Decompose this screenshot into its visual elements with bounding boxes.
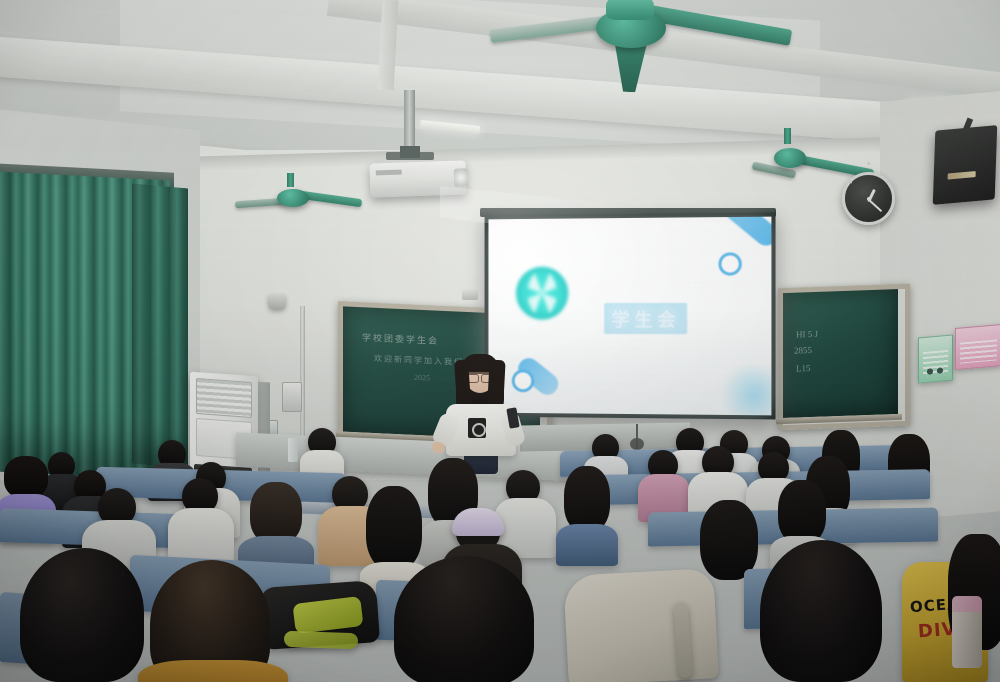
student-foreground-left2 bbox=[150, 560, 280, 682]
student-row2-masked bbox=[640, 450, 688, 520]
pink-calendar-poster bbox=[955, 324, 1000, 370]
fan-rod bbox=[287, 173, 294, 187]
clock-tick bbox=[868, 162, 870, 165]
presenter-handheld-device bbox=[506, 407, 519, 428]
student-row3-2 bbox=[170, 478, 232, 564]
clock-tick bbox=[849, 181, 852, 183]
projector-mount-arm bbox=[400, 146, 420, 158]
wall-switch-box bbox=[282, 382, 302, 412]
hair bbox=[778, 480, 826, 544]
lecture-hall-photo: 学校团委学生会 欢迎新同学加入我们 2025 HI 5 J 2855 L15 学… bbox=[0, 0, 1000, 682]
student-foreground-right bbox=[760, 540, 890, 682]
wall-sensor bbox=[462, 288, 478, 300]
slide-faint-text: · · · · bbox=[682, 346, 704, 353]
hair bbox=[250, 482, 302, 544]
presenter-shirt-graphic bbox=[468, 418, 486, 438]
student-yellow-shirt: OCEAN DIV bbox=[896, 540, 1000, 682]
green-poster bbox=[918, 334, 953, 383]
clock-tick bbox=[886, 181, 889, 183]
hair bbox=[20, 548, 144, 682]
lavender-cap bbox=[452, 508, 504, 536]
clock-center bbox=[867, 197, 871, 201]
ac-louvers bbox=[196, 378, 252, 418]
slide-faint-text: · · · · · bbox=[682, 280, 711, 287]
blue-pill-top-right-dot-icon bbox=[718, 252, 741, 275]
cream-backpack bbox=[563, 568, 719, 682]
fan-hub bbox=[277, 189, 309, 207]
wall-mini-speaker bbox=[268, 294, 286, 310]
wall-conduit-pipe bbox=[300, 306, 305, 436]
water-bottle-pink-cap bbox=[952, 606, 982, 668]
hair bbox=[4, 456, 48, 498]
wall-speaker bbox=[933, 125, 998, 205]
poster-illustration bbox=[925, 364, 945, 376]
fan-rod bbox=[784, 128, 791, 144]
fan-blade-right bbox=[300, 191, 363, 208]
projector-lens bbox=[454, 168, 469, 186]
hair bbox=[394, 556, 534, 682]
bottle-cap bbox=[952, 596, 982, 612]
green-window-curtain-secondary bbox=[132, 184, 188, 469]
backpack-neon-strap-2 bbox=[284, 631, 359, 650]
slide-title: 学生会 bbox=[604, 303, 687, 334]
ceiling-fan-center bbox=[540, 0, 780, 84]
student-foreground-center bbox=[394, 556, 544, 682]
ceiling-fan-left bbox=[245, 183, 365, 225]
wall-clock bbox=[842, 172, 895, 225]
hair bbox=[564, 466, 610, 532]
student-foreground-left bbox=[20, 548, 160, 682]
blue-blob-bottom-right-icon bbox=[718, 364, 771, 415]
ceiling-projector bbox=[369, 160, 466, 197]
fan-hub bbox=[774, 148, 806, 168]
presenter-speaking bbox=[438, 352, 524, 470]
hair bbox=[760, 540, 882, 682]
right-blackboard-frame bbox=[778, 284, 910, 431]
blue-pill-top-right-icon bbox=[696, 217, 772, 250]
speaker-badge bbox=[948, 171, 976, 179]
student-row3-7 bbox=[556, 466, 618, 562]
poster-text-rows bbox=[960, 339, 997, 363]
globe-logo-icon bbox=[516, 266, 569, 320]
torso bbox=[138, 660, 288, 682]
projection-screen: 学生会 · · · · · · · · · bbox=[488, 217, 771, 416]
torso bbox=[556, 524, 618, 566]
water-bottle-clear bbox=[288, 438, 298, 462]
fan-cap bbox=[606, 0, 654, 20]
projector-vent bbox=[376, 170, 402, 176]
hanging-cord-knot bbox=[630, 438, 644, 450]
clock-minute-hand bbox=[868, 199, 882, 212]
